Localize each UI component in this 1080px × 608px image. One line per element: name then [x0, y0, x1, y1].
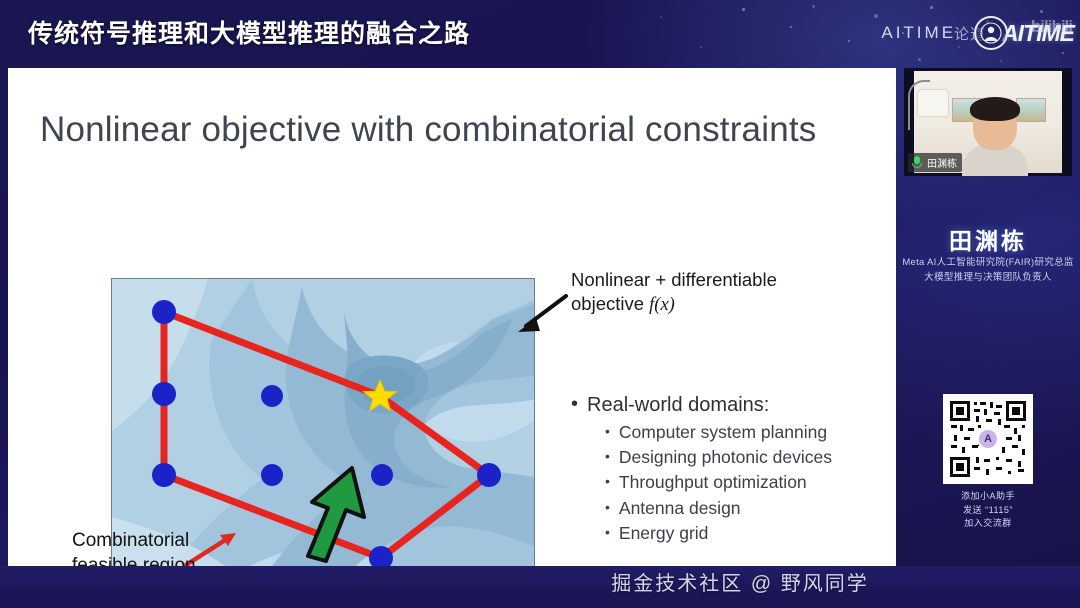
qr-center-logo-icon: A	[977, 428, 999, 450]
qr-code[interactable]: A	[943, 394, 1033, 484]
bilibili-logo: bilibili	[1031, 17, 1072, 37]
polygon-vertex	[477, 463, 501, 487]
objective-pointer-arrow-icon	[506, 290, 572, 338]
list-item: • Antenna design	[605, 496, 891, 521]
speaker-figure	[962, 100, 1028, 176]
speaker-name: 田渊栋	[896, 222, 1080, 256]
lattice-point	[261, 464, 283, 486]
screen-root: 传统符号推理和大模型推理的融合之路 AITIME 论道 AITIME bilib…	[0, 0, 1080, 608]
list-item: • Computer system planning	[605, 420, 891, 445]
aitime-wordmark: AITIME	[881, 23, 956, 43]
qr-caption-line1: 添加小A助手	[943, 490, 1033, 504]
speaker-role: Meta AI人工智能研究院(FAIR)研究总监 大模型推理与决策团队负责人	[902, 256, 1074, 285]
bullet-marker-icon: •	[605, 470, 610, 494]
list-item: • Energy grid	[605, 521, 891, 546]
annotation-nonlinear-objective: Nonlinear + differentiable objective f(x…	[571, 268, 841, 317]
aitime-roundel-logo-icon	[974, 16, 1008, 50]
list-item-label: Designing photonic devices	[619, 445, 832, 470]
list-item: • Designing photonic devices	[605, 445, 891, 470]
lattice-point	[371, 464, 393, 486]
right-sidebar: 田渊栋 田渊栋 Meta AI人工智能研究院(FAIR)研究总监 大模型推理与决…	[896, 60, 1080, 608]
microphone-icon	[911, 156, 923, 169]
bullet-main: • Real-world domains:	[571, 394, 891, 417]
annotation-objective-math: f(x)	[649, 295, 675, 315]
speaker-hair	[970, 97, 1020, 121]
video-name-tag: 田渊栋	[908, 153, 962, 172]
annotation-nonlinear-line1: Nonlinear + differentiable	[571, 268, 841, 292]
sub-bullet-list: • Computer system planning • Designing p…	[605, 420, 891, 546]
bullet-marker-icon: •	[605, 521, 610, 545]
bottom-watermark-text: 掘金技术社区 @ 野风同学	[200, 567, 1080, 596]
real-world-domains-list: • Real-world domains: • Computer system …	[571, 394, 891, 546]
bullet-marker-icon: •	[605, 445, 610, 469]
list-item: • Throughput optimization	[605, 470, 891, 495]
qr-caption-line3: 加入交流群	[943, 517, 1033, 531]
slide-title: Nonlinear objective with combinatorial c…	[40, 110, 816, 150]
bullet-marker-icon: •	[605, 420, 610, 444]
polygon-vertex	[152, 382, 176, 406]
video-name-label: 田渊栋	[927, 155, 957, 170]
bullet-marker-icon: •	[571, 394, 578, 414]
annotation-combinatorial-line1: Combinatorial	[72, 529, 196, 554]
speaker-video-feed[interactable]: 田渊栋	[904, 68, 1072, 176]
qr-caption-line2: 发送 “1115”	[943, 504, 1033, 518]
polygon-vertex	[152, 300, 176, 324]
lamp-decoration	[918, 90, 948, 116]
qr-caption: 添加小A助手 发送 “1115” 加入交流群	[943, 490, 1033, 531]
list-item-label: Throughput optimization	[619, 470, 807, 495]
list-item-label: Energy grid	[619, 521, 709, 546]
bullet-marker-icon: •	[605, 496, 610, 520]
app-header: 传统符号推理和大模型推理的融合之路 AITIME 论道 AITIME bilib…	[0, 0, 1080, 64]
annotation-nonlinear-line2: objective f(x)	[571, 292, 841, 318]
bullet-main-label: Real-world domains:	[587, 394, 769, 417]
qr-code-block: A 添加小A助手 发送 “1115” 加入交流群	[943, 394, 1033, 531]
list-item-label: Antenna design	[619, 496, 741, 521]
bottom-bar: 掘金技术社区 @ 野风同学	[0, 566, 1080, 608]
lattice-point	[261, 385, 283, 407]
list-item-label: Computer system planning	[619, 420, 827, 445]
polygon-vertex	[152, 463, 176, 487]
qr-code-canvas: A	[948, 399, 1028, 479]
page-title: 传统符号推理和大模型推理的融合之路	[28, 14, 470, 50]
presentation-slide: Nonlinear objective with combinatorial c…	[8, 68, 896, 566]
speaker-role-line2: 大模型推理与决策团队负责人	[902, 271, 1074, 286]
annotation-objective-label: objective	[571, 293, 649, 314]
speaker-role-line1: Meta AI人工智能研究院(FAIR)研究总监	[902, 256, 1074, 271]
